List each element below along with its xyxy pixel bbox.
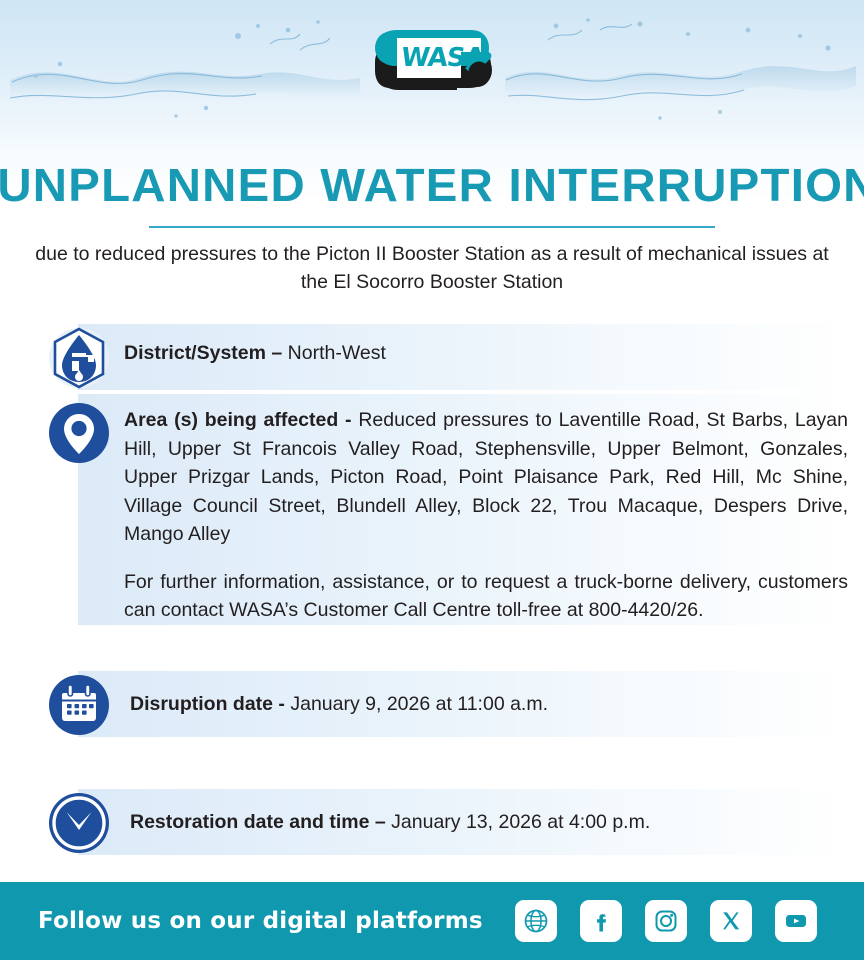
district-separator: – (266, 342, 288, 364)
areas-label: Area (s) being affected (124, 409, 338, 431)
poster-footer: Follow us on our digital platforms (0, 882, 864, 960)
areas-separator: - (338, 409, 358, 431)
youtube-icon[interactable] (775, 900, 817, 942)
district-value: North-West (288, 342, 386, 364)
water-drop-tap-icon (48, 327, 110, 389)
footer-follow-text: Follow us on our digital platforms (38, 908, 483, 934)
areas-line: Area (s) being affected - Reduced pressu… (124, 406, 848, 548)
instagram-icon[interactable] (645, 900, 687, 942)
row-restoration-body: Restoration date and time – January 13, … (110, 785, 864, 836)
district-line: District/System – North-West (124, 339, 846, 367)
row-district-body: District/System – North-West (110, 322, 864, 367)
row-areas-body: Area (s) being affected - Reduced pressu… (110, 394, 864, 624)
disruption-value: January 9, 2026 at 11:00 a.m. (290, 693, 548, 715)
disruption-label: Disruption date (130, 693, 273, 715)
website-globe-icon[interactable] (515, 900, 557, 942)
district-label: District/System (124, 342, 266, 364)
row-areas-affected: Area (s) being affected - Reduced pressu… (0, 394, 864, 624)
clock-icon (48, 792, 110, 854)
areas-note: For further information, assistance, or … (124, 568, 848, 625)
info-rows: District/System – North-West Area (s) be… (0, 322, 864, 860)
restoration-label: Restoration date and time (130, 811, 369, 833)
page-subtitle: due to reduced pressures to the Picton I… (27, 241, 837, 296)
restoration-line: Restoration date and time – January 13, … (130, 808, 846, 836)
title-block: UNPLANNED WATER INTERRUPTION due to redu… (0, 162, 864, 296)
location-pin-icon (48, 402, 110, 464)
row-restoration-date: Restoration date and time – January 13, … (0, 785, 864, 861)
wasa-logo: WASA (361, 22, 503, 100)
calendar-icon (48, 674, 110, 736)
x-twitter-icon[interactable] (710, 900, 752, 942)
row-district-system: District/System – North-West (0, 322, 864, 394)
restoration-separator: – (369, 811, 391, 833)
disruption-line: Disruption date - January 9, 2026 at 11:… (130, 690, 846, 718)
social-links (515, 900, 817, 942)
restoration-value: January 13, 2026 at 4:00 p.m. (391, 811, 650, 833)
facebook-icon[interactable] (580, 900, 622, 942)
page-title: UNPLANNED WATER INTERRUPTION (0, 162, 864, 208)
disruption-separator: - (273, 693, 290, 715)
title-divider (149, 226, 715, 228)
poster-header: WASA (0, 0, 864, 130)
row-disruption-body: Disruption date - January 9, 2026 at 11:… (110, 667, 864, 718)
row-disruption-date: Disruption date - January 9, 2026 at 11:… (0, 667, 864, 743)
wasa-notice-poster: WASA UNPLANNED WATER INTERRUPTION due to… (0, 0, 864, 960)
